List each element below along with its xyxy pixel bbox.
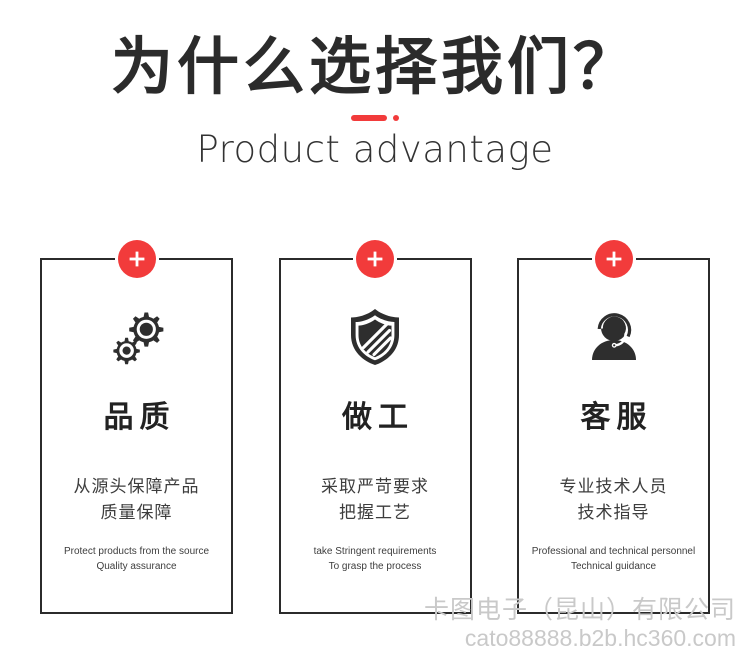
card-en-line-2: Quality assurance	[64, 559, 209, 574]
watermark-url: cato88888.b2b.hc360.com	[424, 625, 736, 652]
card-cn-line-1: 从源头保障产品	[74, 474, 200, 500]
card-cn-line-1: 采取严苛要求	[321, 474, 429, 500]
shield-icon	[347, 306, 403, 368]
card-chinese-description: 从源头保障产品 质量保障	[74, 474, 200, 526]
card-chinese-description: 采取严苛要求 把握工艺	[321, 474, 429, 526]
card-en-line-2: Technical guidance	[532, 559, 695, 574]
card-english-description: Protect products from the source Quality…	[60, 544, 213, 574]
card-title: 品质	[98, 392, 176, 436]
card-cn-line-2: 把握工艺	[321, 500, 429, 526]
card-english-description: take Stringent requirements To grasp the…	[310, 544, 441, 574]
card-cn-line-1: 专业技术人员	[560, 474, 668, 500]
advantage-card-list: 品质 从源头保障产品 质量保障 Protect products from th…	[40, 258, 710, 614]
divider-dot	[393, 115, 399, 121]
card-cn-line-2: 技术指导	[560, 500, 668, 526]
plus-icon[interactable]	[595, 240, 633, 278]
page-title: 为什么选择我们？	[0, 34, 750, 99]
advantage-card-customer-service[interactable]: 客服 专业技术人员 技术指导 Professional and technica…	[517, 258, 710, 614]
advantage-card-workmanship[interactable]: 做工 采取严苛要求 把握工艺 take Stringent requiremen…	[279, 258, 472, 614]
plus-icon[interactable]	[356, 240, 394, 278]
card-cn-line-2: 质量保障	[74, 500, 200, 526]
card-en-line-1: Professional and technical personnel	[532, 544, 695, 559]
gears-icon	[106, 306, 168, 368]
card-en-line-2: To grasp the process	[314, 559, 437, 574]
card-en-line-1: Protect products from the source	[64, 544, 209, 559]
card-title: 客服	[575, 392, 653, 436]
divider-dash	[351, 115, 387, 121]
card-title: 做工	[336, 392, 414, 436]
card-english-description: Professional and technical personnel Tec…	[528, 544, 699, 574]
page-header: 为什么选择我们？ Product advantage	[0, 0, 750, 171]
card-en-line-1: take Stringent requirements	[314, 544, 437, 559]
plus-icon[interactable]	[118, 240, 156, 278]
dash-dot-divider-icon	[346, 115, 404, 121]
advantage-card-quality[interactable]: 品质 从源头保障产品 质量保障 Protect products from th…	[40, 258, 233, 614]
card-chinese-description: 专业技术人员 技术指导	[560, 474, 668, 526]
headset-support-icon	[585, 306, 643, 368]
page-subtitle: Product advantage	[0, 128, 750, 171]
